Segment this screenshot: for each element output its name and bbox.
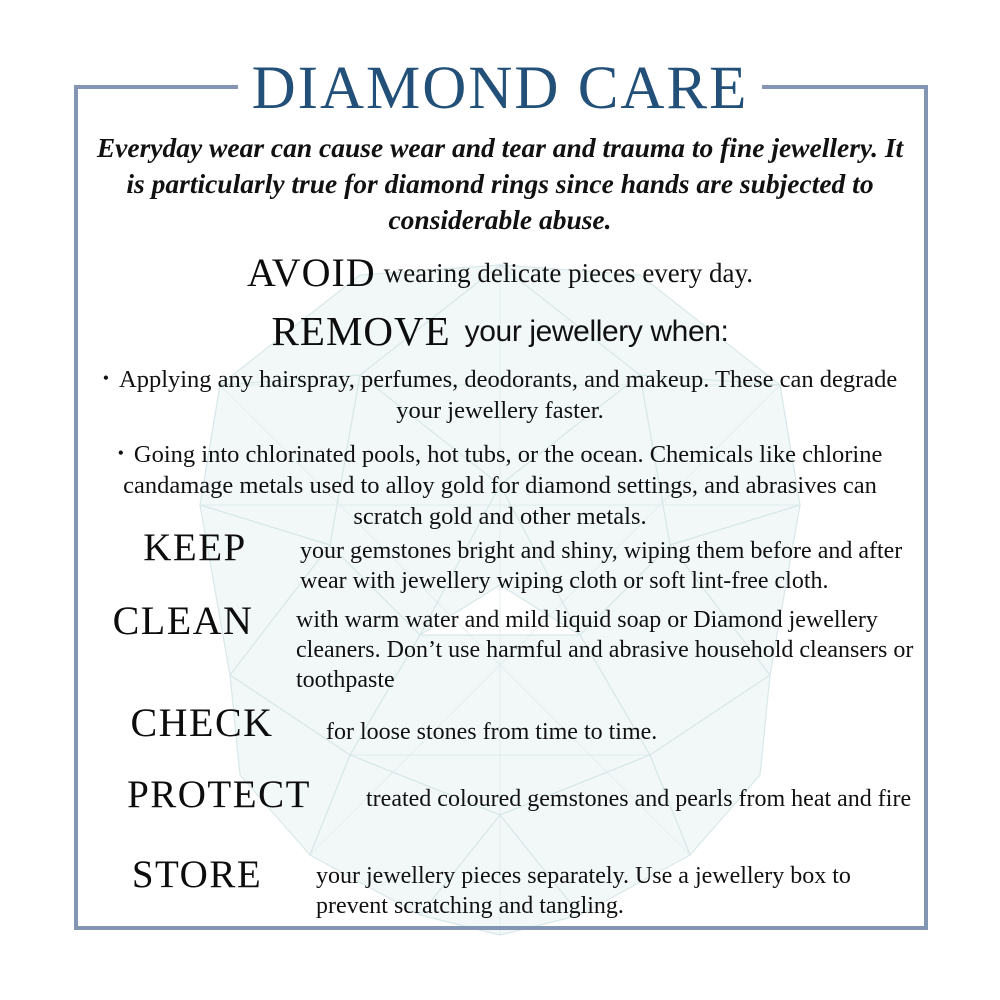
page-title-text: DIAMOND CARE — [238, 55, 763, 122]
bullet-text: Applying any hairspray, perfumes, deodor… — [119, 366, 897, 424]
page-title: DIAMOND CARE — [0, 58, 1000, 119]
care-section-check: CHECK for loose stones from time to time… — [78, 703, 926, 747]
list-item: •Applying any hairspray, perfumes, deodo… — [100, 363, 900, 426]
remove-body: your jewellery when: — [451, 315, 729, 348]
diamond-care-poster: DIAMOND CARE Everyday wear can cause wea… — [0, 0, 1000, 1000]
care-body-check: for loose stones from time to time. — [326, 703, 926, 747]
care-section-protect: PROTECT treated coloured gemstones and p… — [78, 775, 926, 814]
care-keyword-protect: PROTECT — [74, 775, 364, 814]
faceted-diamond-watermark — [170, 255, 830, 945]
care-body-store: your jewellery pieces separately. Use a … — [316, 855, 926, 921]
care-section-clean: CLEAN with warm water and mild liquid so… — [78, 601, 926, 695]
care-keyword-store: STORE — [82, 855, 312, 894]
care-section-store: STORE your jewellery pieces separately. … — [78, 855, 926, 921]
avoid-instruction: AVOIDwearing delicate pieces every day. — [0, 249, 1000, 296]
avoid-body: wearing delicate pieces every day. — [376, 258, 753, 288]
list-item: •Going into chlorinated pools, hot tubs,… — [100, 438, 900, 532]
care-body-protect: treated coloured gemstones and pearls fr… — [366, 775, 926, 814]
remove-instruction: REMOVEyour jewellery when: — [0, 307, 1000, 355]
care-body-keep: your gemstones bright and shiny, wiping … — [300, 528, 926, 596]
care-section-keep: KEEP your gemstones bright and shiny, wi… — [78, 528, 926, 596]
care-keyword-keep: KEEP — [100, 528, 290, 567]
remove-bullet-list: •Applying any hairspray, perfumes, deodo… — [100, 363, 900, 544]
bullet-text: Going into chlorinated pools, hot tubs, … — [123, 441, 882, 530]
care-keyword-clean: CLEAN — [80, 601, 286, 641]
intro-paragraph: Everyday wear can cause wear and tear an… — [92, 130, 908, 238]
frame-bottom-edge — [74, 926, 928, 930]
care-body-clean: with warm water and mild liquid soap or … — [296, 601, 926, 695]
avoid-keyword: AVOID — [247, 250, 376, 295]
bullet-marker: • — [118, 443, 134, 463]
care-keyword-check: CHECK — [78, 703, 326, 743]
remove-keyword: REMOVE — [272, 308, 451, 354]
bullet-marker: • — [103, 368, 119, 388]
